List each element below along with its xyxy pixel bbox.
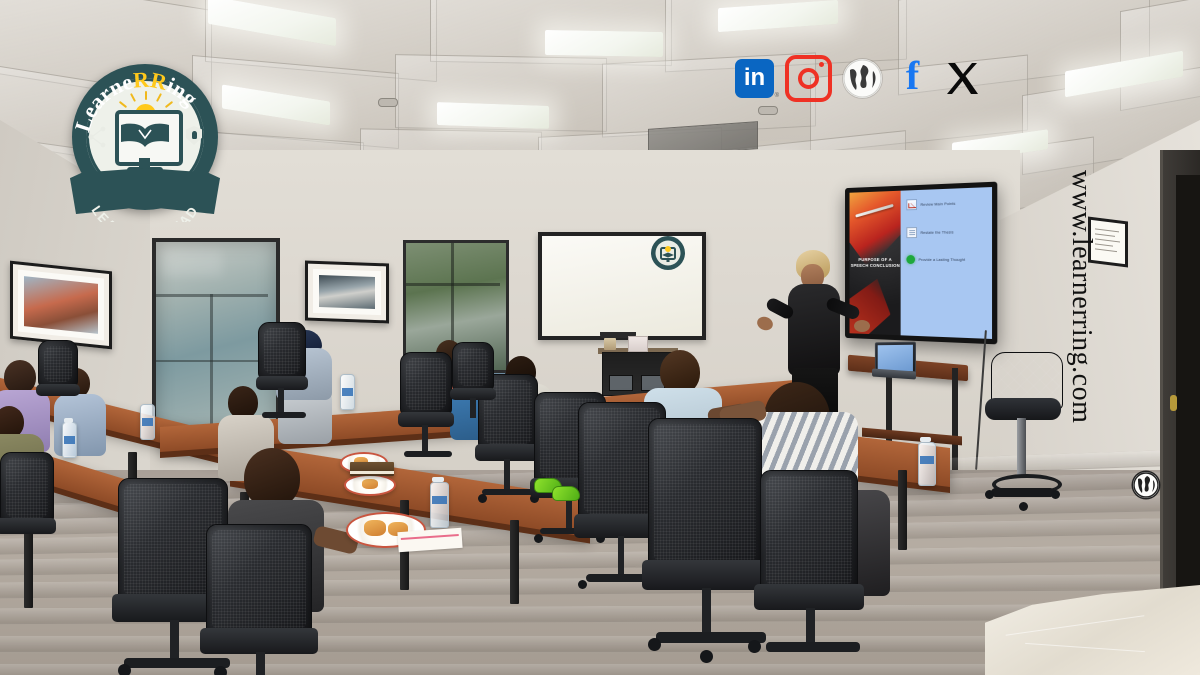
supply-cups	[604, 338, 616, 350]
slide-item-label: Provide a Lasting Thought	[918, 257, 965, 261]
office-chair[interactable]	[0, 452, 70, 572]
facebook-glyph: f	[893, 54, 932, 98]
presenter-right-hand	[854, 320, 870, 332]
office-chair[interactable]	[760, 470, 890, 670]
tissue-box	[628, 336, 648, 352]
slide-item: Review Main Points	[907, 197, 987, 211]
slide-item: Restate the Thesis	[907, 226, 987, 239]
svg-text:LEARN TO LEAD: LEARN TO LEAD	[89, 203, 202, 222]
table-leg	[510, 520, 519, 604]
office-chair[interactable]	[206, 524, 346, 675]
presentation-screen[interactable]: PURPOSE OF A SPEECH CONCLUSION Review Ma…	[845, 182, 997, 345]
table-leg	[898, 470, 907, 550]
facebook-icon[interactable]: f	[893, 59, 932, 98]
logo-tagline: LEARN TO LEAD	[89, 203, 202, 222]
instagram-icon[interactable]	[785, 55, 832, 102]
wall-logo-decal	[650, 235, 686, 271]
bottle-cap	[432, 477, 444, 482]
water-bottle	[340, 374, 355, 410]
slide-bullets-panel: Review Main Points Restate the Thesis Pr…	[901, 187, 992, 339]
food	[362, 479, 378, 489]
office-chair[interactable]	[258, 322, 318, 422]
paper-plate	[344, 474, 396, 496]
x-twitter-icon[interactable]	[943, 59, 982, 98]
osprey-aircraft-photo	[305, 261, 389, 324]
smoke-detector-icon	[758, 106, 778, 115]
url-globe-icon	[1133, 472, 1159, 498]
helicopter-photo	[10, 261, 112, 350]
learnerring-logo: LearneRRing	[66, 64, 224, 224]
water-bottle	[918, 442, 936, 486]
slide: PURPOSE OF A SPEECH CONCLUSION Review Ma…	[850, 187, 992, 339]
drafting-stool[interactable]	[985, 352, 1063, 522]
water-bottle	[62, 422, 77, 458]
social-icons-bar: in f	[735, 55, 982, 102]
food	[364, 520, 386, 536]
sun-ray	[145, 91, 147, 100]
slide-item-label: Restate the Thesis	[920, 230, 953, 235]
green-dot-icon	[907, 255, 916, 264]
linkedin-icon[interactable]: in	[735, 59, 774, 98]
office-chair[interactable]	[38, 340, 88, 420]
water-bottle	[140, 404, 155, 440]
slide-item: Provide a Lasting Thought	[907, 255, 987, 264]
document-icon	[907, 227, 918, 238]
logo-text-accent: RR	[132, 67, 170, 96]
website-url: www.learnerring.com	[1057, 170, 1097, 500]
bottle-cap	[920, 437, 931, 442]
door-handle-icon[interactable]	[1170, 395, 1177, 411]
globe-icon[interactable]	[843, 59, 882, 98]
chart-icon	[907, 199, 918, 210]
bottle-cap	[64, 418, 73, 423]
photo-canvas: PURPOSE OF A SPEECH CONCLUSION Review Ma…	[0, 0, 1200, 675]
slide-item-label: Review Main Points	[920, 201, 955, 206]
logo-banner: LEARN TO LEAD	[66, 160, 224, 222]
sneaker	[552, 486, 580, 501]
book	[350, 462, 394, 476]
linkedin-glyph: in	[735, 65, 774, 91]
smoke-detector-icon	[378, 98, 398, 107]
ceiling-light	[437, 102, 549, 129]
open-book-icon	[119, 121, 171, 149]
water-bottle	[430, 482, 449, 528]
network-node-icon	[88, 126, 108, 148]
door-panel	[1176, 175, 1200, 595]
office-chair[interactable]	[452, 342, 504, 426]
ceiling-light	[545, 30, 663, 57]
